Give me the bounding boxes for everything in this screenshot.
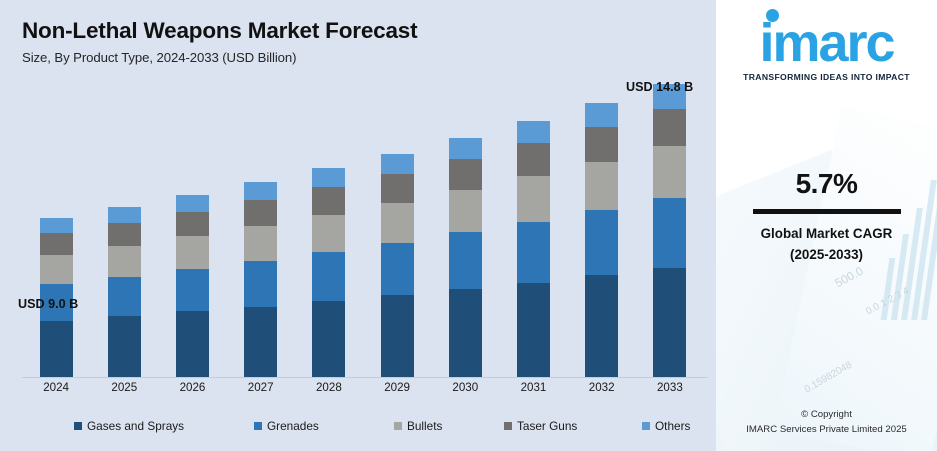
- segment-2031-gases-and-sprays: [517, 283, 550, 377]
- legend-swatch-icon: [74, 422, 82, 430]
- segment-2028-grenades: [312, 252, 345, 301]
- chart-legend: Gases and SpraysGrenadesBulletsTaser Gun…: [22, 415, 704, 437]
- legend-item-others[interactable]: Others: [642, 419, 690, 433]
- legend-swatch-icon: [642, 422, 650, 430]
- x-tick-2033: 2033: [636, 381, 704, 394]
- x-tick-2024: 2024: [22, 381, 90, 394]
- bar-2028: [312, 168, 345, 377]
- segment-2030-gases-and-sprays: [449, 289, 482, 377]
- cagr-label-line1: Global Market CAGR: [716, 224, 937, 245]
- x-tick-2026: 2026: [158, 381, 226, 394]
- chart-panel: Non-Lethal Weapons Market Forecast Size,…: [0, 0, 716, 451]
- segment-2033-bullets: [653, 146, 686, 198]
- legend-label: Bullets: [407, 419, 442, 433]
- cagr-value: 5.7%: [716, 168, 937, 200]
- legend-item-grenades[interactable]: Grenades: [254, 419, 319, 433]
- x-tick-2032: 2032: [568, 381, 636, 394]
- x-axis-labels: 2024202520262027202820292030203120322033: [22, 381, 704, 403]
- legend-item-taser-guns[interactable]: Taser Guns: [504, 419, 577, 433]
- copyright-block: © Copyright IMARC Services Private Limit…: [716, 408, 937, 437]
- callout-end-value: USD 14.8 B: [626, 80, 693, 94]
- segment-2026-others: [176, 195, 209, 212]
- callout-start-value: USD 9.0 B: [18, 297, 78, 311]
- segment-2031-taser-guns: [517, 143, 550, 176]
- segment-2030-others: [449, 138, 482, 159]
- segment-2033-taser-guns: [653, 109, 686, 146]
- segment-2024-bullets: [40, 255, 73, 283]
- segment-2032-others: [585, 103, 618, 127]
- segment-2026-bullets: [176, 236, 209, 268]
- cagr-label-line2: (2025-2033): [716, 245, 937, 266]
- legend-label: Taser Guns: [517, 419, 577, 433]
- legend-item-bullets[interactable]: Bullets: [394, 419, 442, 433]
- segment-2027-taser-guns: [244, 200, 277, 226]
- segment-2032-taser-guns: [585, 127, 618, 162]
- legend-label: Grenades: [267, 419, 319, 433]
- segment-2025-bullets: [108, 246, 141, 276]
- segment-2028-others: [312, 168, 345, 187]
- x-tick-2025: 2025: [90, 381, 158, 394]
- segment-2027-others: [244, 182, 277, 200]
- bar-2032: [585, 103, 618, 377]
- logo-wordmark-text: imarc: [759, 13, 893, 73]
- segment-2026-gases-and-sprays: [176, 311, 209, 377]
- x-tick-2029: 2029: [363, 381, 431, 394]
- chart-subtitle: Size, By Product Type, 2024-2033 (USD Bi…: [22, 50, 716, 65]
- imarc-logo: imarc TRANSFORMING IDEAS INTO IMPACT: [716, 18, 937, 82]
- bar-2030: [449, 138, 482, 377]
- legend-item-gases-and-sprays[interactable]: Gases and Sprays: [74, 419, 184, 433]
- chart-infographic: Non-Lethal Weapons Market Forecast Size,…: [0, 0, 937, 451]
- segment-2025-others: [108, 207, 141, 223]
- segment-2028-bullets: [312, 215, 345, 252]
- logo-wordmark: imarc: [759, 18, 893, 69]
- segment-2032-bullets: [585, 162, 618, 211]
- legend-swatch-icon: [254, 422, 262, 430]
- x-tick-2031: 2031: [499, 381, 567, 394]
- segment-2031-grenades: [517, 222, 550, 283]
- legend-swatch-icon: [504, 422, 512, 430]
- logo-tagline: TRANSFORMING IDEAS INTO IMPACT: [716, 72, 937, 82]
- bar-2029: [381, 154, 414, 377]
- segment-2029-others: [381, 154, 414, 174]
- brand-panel: 500.0 0.0 1 2 3 4 0.15982048 imarc TRANS…: [716, 0, 937, 451]
- legend-label: Gases and Sprays: [87, 419, 184, 433]
- legend-swatch-icon: [394, 422, 402, 430]
- legend-label: Others: [655, 419, 690, 433]
- segment-2029-gases-and-sprays: [381, 295, 414, 377]
- bars-container: [22, 95, 704, 377]
- segment-2031-bullets: [517, 176, 550, 221]
- segment-2032-grenades: [585, 210, 618, 275]
- segment-2032-gases-and-sprays: [585, 275, 618, 377]
- bar-2026: [176, 195, 209, 377]
- bar-2031: [517, 121, 550, 377]
- segment-2030-bullets: [449, 190, 482, 232]
- segment-2027-grenades: [244, 261, 277, 307]
- copyright-line1: © Copyright: [716, 408, 937, 422]
- segment-2024-gases-and-sprays: [40, 321, 73, 377]
- chart-header: Non-Lethal Weapons Market Forecast Size,…: [0, 14, 716, 65]
- segment-2025-gases-and-sprays: [108, 316, 141, 377]
- segment-2026-taser-guns: [176, 212, 209, 237]
- x-tick-2030: 2030: [431, 381, 499, 394]
- axis-baseline: [22, 377, 708, 378]
- segment-2025-grenades: [108, 277, 141, 317]
- segment-2029-grenades: [381, 243, 414, 296]
- segment-2029-bullets: [381, 203, 414, 243]
- segment-2033-gases-and-sprays: [653, 268, 686, 377]
- segment-2024-others: [40, 218, 73, 233]
- cagr-block: 5.7% Global Market CAGR (2025-2033): [716, 168, 937, 266]
- bar-2025: [108, 207, 141, 377]
- segment-2027-gases-and-sprays: [244, 307, 277, 378]
- segment-2033-grenades: [653, 198, 686, 268]
- segment-2026-grenades: [176, 269, 209, 312]
- segment-2031-others: [517, 121, 550, 143]
- x-tick-2027: 2027: [227, 381, 295, 394]
- x-tick-2028: 2028: [295, 381, 363, 394]
- segment-2030-taser-guns: [449, 159, 482, 190]
- segment-2028-taser-guns: [312, 187, 345, 215]
- segment-2028-gases-and-sprays: [312, 301, 345, 377]
- segment-2030-grenades: [449, 232, 482, 289]
- segment-2025-taser-guns: [108, 223, 141, 246]
- copyright-line2: IMARC Services Private Limited 2025: [716, 423, 937, 437]
- page-title: Non-Lethal Weapons Market Forecast: [22, 18, 716, 43]
- cagr-divider: [753, 209, 901, 214]
- bar-2027: [244, 182, 277, 377]
- segment-2027-bullets: [244, 226, 277, 261]
- segment-2024-taser-guns: [40, 233, 73, 255]
- bar-2033: [653, 84, 686, 377]
- segment-2029-taser-guns: [381, 174, 414, 203]
